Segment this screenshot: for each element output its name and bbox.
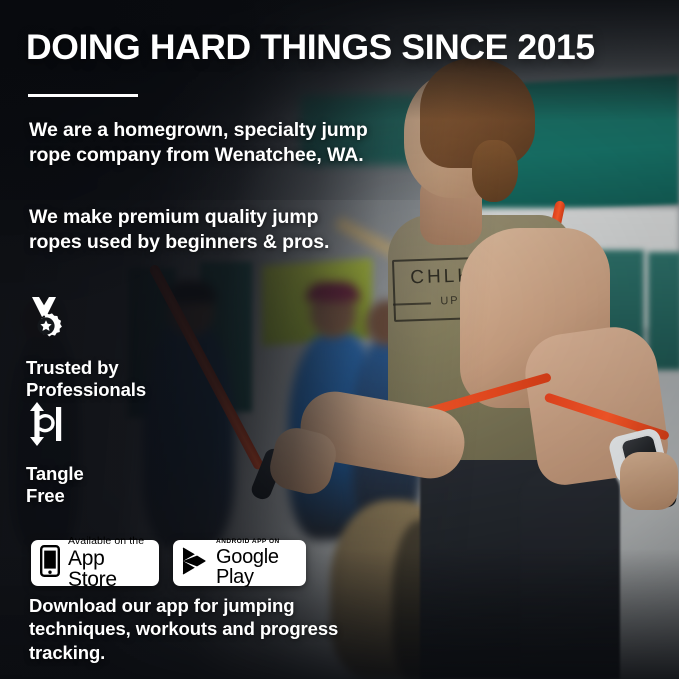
feature-trusted-by-professionals: Trusted by Professionals: [26, 296, 146, 401]
advertisement-infographic: CHLKD UP DOING HARD THINGS SINCE 2015 We…: [0, 0, 679, 679]
title-divider: [28, 94, 138, 97]
google-play-badge-small-text: ANDROID APP ON: [216, 539, 298, 546]
tangle-free-icon: [26, 400, 84, 453]
app-store-badge[interactable]: Available on the App Store: [31, 540, 159, 586]
feature-tangle-free: Tangle Free: [26, 400, 84, 507]
iphone-icon: [40, 545, 60, 582]
medal-icon: [26, 296, 146, 347]
google-play-triangle-icon: [181, 546, 209, 581]
content-layer: DOING HARD THINGS SINCE 2015 We are a ho…: [0, 0, 679, 679]
intro-paragraph-2: We make premium quality jump ropes used …: [29, 205, 374, 255]
google-play-badge-text: ANDROID APP ON Google Play: [216, 539, 298, 588]
footer-caption: Download our app for jumping techniques,…: [29, 594, 389, 664]
intro-paragraph-1: We are a homegrown, specialty jump rope …: [29, 118, 379, 168]
app-store-badge-big-text: App Store: [68, 548, 150, 590]
feature-label: Trusted by Professionals: [26, 357, 146, 400]
app-store-badge-text: Available on the App Store: [68, 536, 150, 590]
page-title: DOING HARD THINGS SINCE 2015: [26, 28, 656, 66]
google-play-badge-big-text: Google Play: [216, 547, 298, 587]
google-play-badge[interactable]: ANDROID APP ON Google Play: [173, 540, 306, 586]
app-store-badges: Available on the App Store AN: [31, 540, 306, 586]
feature-label: Tangle Free: [26, 463, 84, 506]
app-store-badge-small-text: Available on the: [68, 536, 150, 547]
